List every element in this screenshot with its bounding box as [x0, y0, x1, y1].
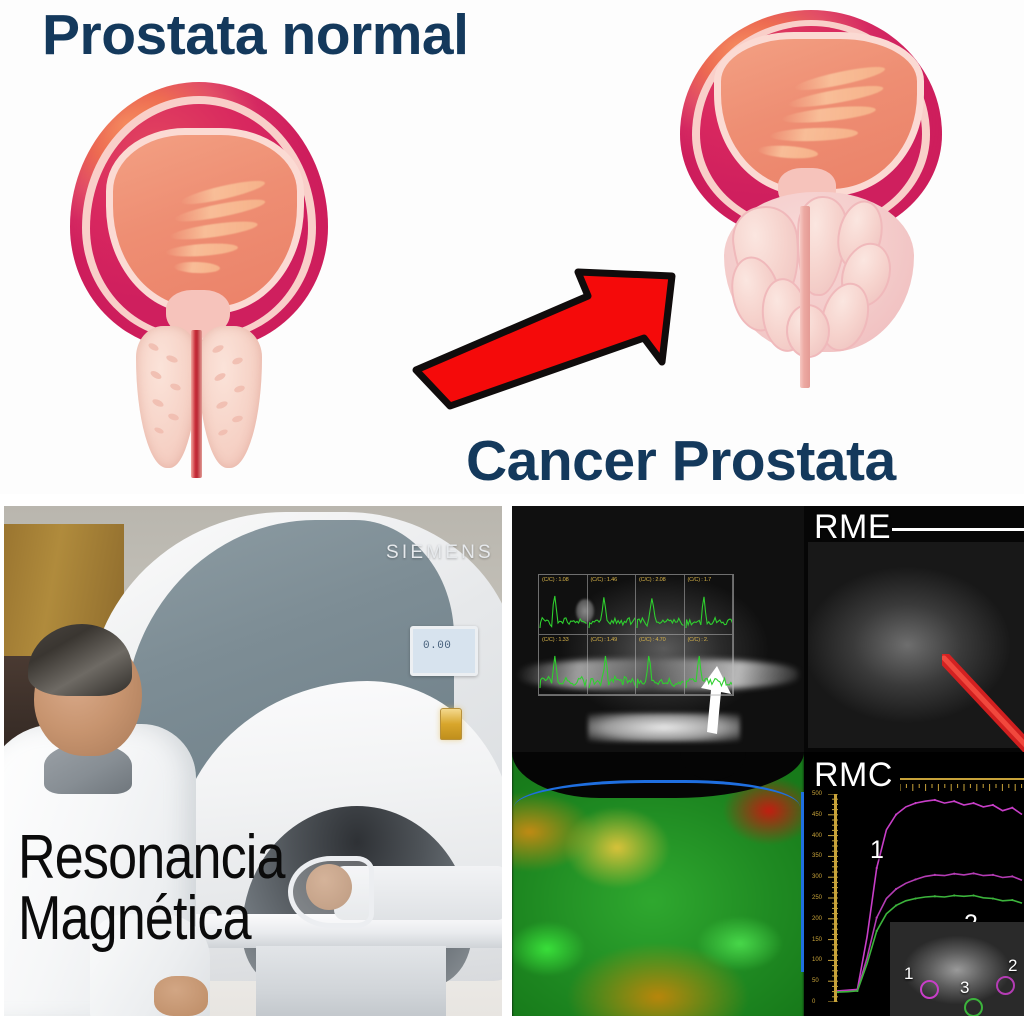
roi-circle-2 [996, 976, 1015, 995]
spectroscopy-trace [588, 654, 636, 692]
spectroscopy-voxel: (C/C) : 1.33 [539, 635, 588, 695]
bottom-margin [0, 1016, 1024, 1024]
rmc-y-tick-label: 400 [812, 833, 822, 839]
rmc-curve-label-1: 1 [870, 836, 884, 865]
cancer-prostate-figure [672, 10, 972, 390]
spectroscopy-voxel: (C/C) : 1.46 [588, 575, 637, 635]
resonancia-magnetica-overlay: Resonancia Magnética [18, 828, 285, 950]
siemens-logo: SIEMENS [386, 542, 494, 564]
spectroscopy-trace [636, 594, 684, 632]
rmc-y-tick-label: 100 [812, 957, 822, 963]
patient-table-base [256, 946, 446, 1018]
voxel-ratio-label: (C/C) : 1.7 [688, 577, 712, 583]
panel-divider-horizontal [0, 494, 1024, 504]
title-cancer-prostata: Cancer Prostata [466, 428, 896, 494]
roi-label-3: 3 [960, 978, 969, 998]
rmc-y-tick-label: 250 [812, 895, 822, 901]
spectroscopy-voxel: (C/C) : 1.49 [588, 635, 637, 695]
rme-underline [892, 528, 1024, 531]
rmc-y-tick-label: 200 [812, 916, 822, 922]
voxel-ratio-label: (C/C) : 1.46 [591, 577, 618, 583]
rmc-y-tick-label: 0 [812, 999, 815, 1005]
rme-label: RME [814, 508, 891, 547]
voxel-ratio-label: (C/C) : 2. [688, 637, 709, 643]
lcd-readout-value: 0.00 [423, 640, 451, 652]
spectroscopy-voxel: (C/C) : 2.08 [636, 575, 685, 635]
urethra [191, 330, 202, 478]
radiologist-hand [154, 976, 208, 1016]
prostate-lobe-right [198, 326, 262, 468]
voxel-ratio-label: (C/C) : 4.70 [639, 637, 666, 643]
perfusion-color-map [512, 752, 804, 1018]
spectroscopy-voxel: (C/C) : 4.70 [636, 635, 685, 695]
scanner-lcd-display[interactable]: 0.00 [410, 626, 478, 676]
spectroscopy-trace [539, 654, 587, 692]
overlay-line-2: Magnética [18, 889, 285, 950]
spectroscopy-trace [588, 594, 636, 632]
bottom-photo-row: SIEMENS 0.00 Resonancia Magnética [0, 502, 1024, 1020]
overlay-line-1: Resonancia [18, 828, 285, 889]
voxel-ratio-label: (C/C) : 2.08 [639, 577, 666, 583]
multiparametric-mri-panel: (C/C) : 1.08(C/C) : 1.46(C/C) : 2.08(C/C… [512, 506, 1024, 1018]
rmc-y-tick-label: 500 [812, 791, 822, 797]
spectroscopy-voxel: (C/C) : 2. [685, 635, 734, 695]
anatomy-diagram-panel: Prostata normal [0, 0, 1024, 500]
rmc-y-tick-label: 350 [812, 853, 822, 859]
spectroscopy-trace [685, 594, 733, 632]
roi-circle-1 [920, 980, 939, 999]
spectroscopy-voxel: (C/C) : 1.08 [539, 575, 588, 635]
prostate-mri-collage: Prostata normal [0, 0, 1024, 1024]
normal-prostate-figure [62, 78, 332, 478]
red-arrow-icon [410, 250, 710, 410]
rmc-y-tick-labels: 500450400350300250200150100500 [812, 794, 830, 1002]
rmc-y-tick-label: 300 [812, 874, 822, 880]
spectroscopy-trace [685, 654, 733, 692]
urethra [800, 206, 810, 388]
roi-circle-3 [964, 998, 983, 1017]
scanner-warning-light [440, 708, 462, 740]
spectroscopy-trace [636, 654, 684, 692]
spectroscopy-voxel: (C/C) : 1.7 [685, 575, 734, 635]
voxel-ratio-label: (C/C) : 1.33 [542, 637, 569, 643]
spectroscopy-voxel-grid: (C/C) : 1.08(C/C) : 1.46(C/C) : 2.08(C/C… [538, 574, 734, 696]
rmc-y-tick-label: 450 [812, 812, 822, 818]
roi-label-1: 1 [904, 964, 913, 984]
panel-divider-vertical [502, 500, 512, 1024]
title-prostata-normal: Prostata normal [42, 2, 468, 68]
red-marker-line [942, 654, 1024, 754]
rmc-y-tick-label: 50 [812, 978, 819, 984]
roi-reference-image: 1 2 3 [890, 922, 1024, 1018]
head-coil [288, 856, 374, 928]
roi-label-2: 2 [1008, 956, 1017, 976]
prostate-lobe-left [136, 326, 198, 468]
voxel-ratio-label: (C/C) : 1.08 [542, 577, 569, 583]
rmc-y-tick-label: 150 [812, 937, 822, 943]
spectroscopy-trace [539, 594, 587, 632]
voxel-ratio-label: (C/C) : 1.49 [591, 637, 618, 643]
